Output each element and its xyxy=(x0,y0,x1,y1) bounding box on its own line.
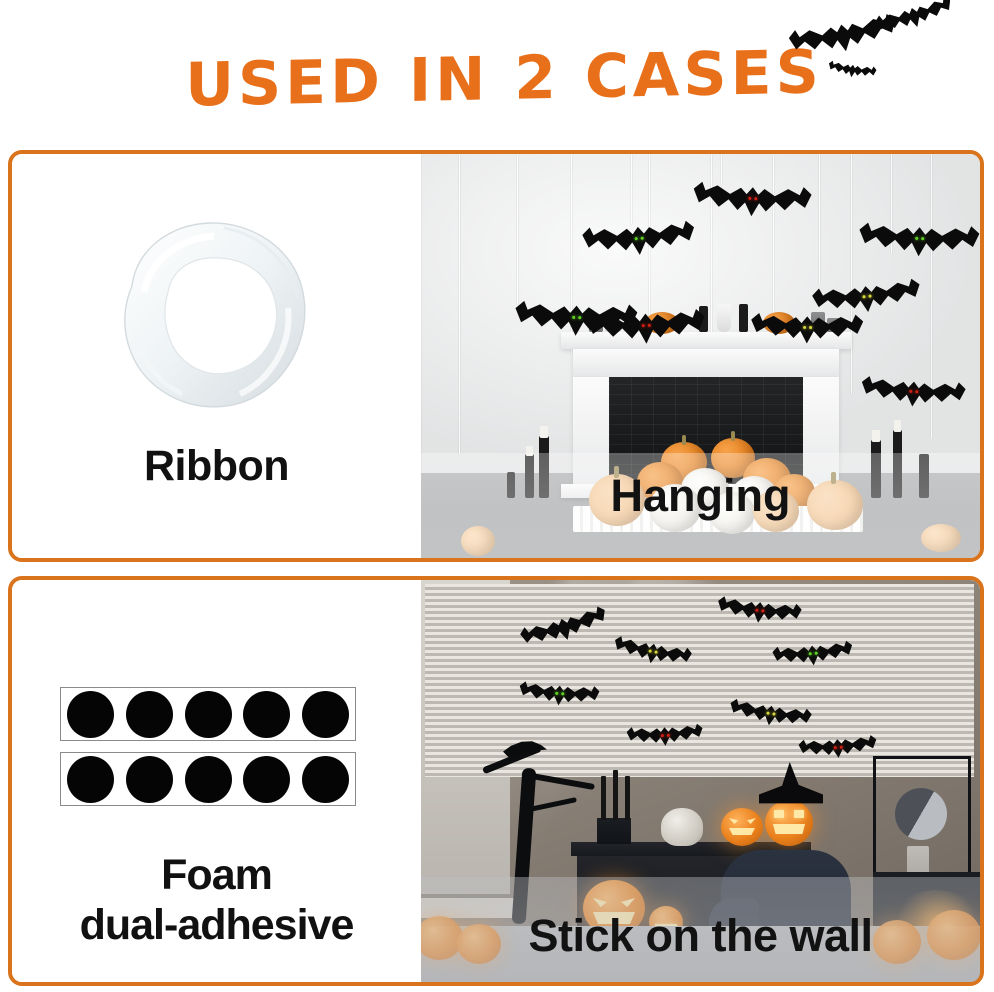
bat-decoration xyxy=(518,675,600,718)
bat-decoration xyxy=(517,599,613,664)
foam-dot xyxy=(126,756,173,803)
bat-decoration xyxy=(586,300,706,362)
bat-icon xyxy=(610,630,693,681)
product-label-foam: Foam dual-adhesive xyxy=(12,850,421,950)
bat-icon xyxy=(771,635,854,680)
bat-eye xyxy=(840,745,843,748)
scene-label-hanging: Hanging xyxy=(421,470,980,522)
case-panel-stick: Foam dual-adhesive xyxy=(8,576,984,986)
bat-decoration xyxy=(692,173,813,235)
bat-icon xyxy=(518,675,600,718)
page-title: USED IN 2 CASES xyxy=(168,33,840,127)
foam-dot xyxy=(302,691,349,738)
foam-dot xyxy=(67,691,114,738)
bat-decoration xyxy=(610,630,693,681)
bat-eye xyxy=(641,236,644,239)
foam-adhesive-strip xyxy=(60,687,356,741)
header: USED IN 2 CASES xyxy=(0,0,994,140)
bat-eye xyxy=(809,326,812,329)
foam-dot xyxy=(243,756,290,803)
foam-dot xyxy=(185,691,232,738)
product-label-ribbon: Ribbon xyxy=(12,442,421,491)
foam-dot xyxy=(302,756,349,803)
bat-decoration xyxy=(858,214,980,274)
bat-icon xyxy=(517,599,613,664)
scene-hanging-art: Hanging xyxy=(421,154,980,558)
bat-icon xyxy=(626,718,704,758)
bat-eye xyxy=(834,746,837,749)
bat-eye xyxy=(803,326,806,329)
infographic-root: USED IN 2 CASES xyxy=(0,0,994,992)
scene-stick-art: Stick on the wall xyxy=(421,580,980,982)
product-cell-foam: Foam dual-adhesive xyxy=(12,580,421,982)
bat-icon xyxy=(586,300,706,362)
bat-decoration xyxy=(859,368,966,423)
bat-eye xyxy=(667,733,670,736)
bat-icon xyxy=(858,214,980,274)
scene-stick: Stick on the wall xyxy=(421,580,980,982)
header-bat-medium xyxy=(872,0,957,48)
bat-icon xyxy=(581,212,696,274)
scene-label-stick: Stick on the wall xyxy=(421,910,980,962)
ribbon-coil-icon xyxy=(92,216,322,416)
bat-decoration xyxy=(581,212,696,274)
product-label-foam-line2: dual-adhesive xyxy=(12,900,421,950)
case-panel-hanging: Ribbon xyxy=(8,150,984,562)
bat-decoration xyxy=(771,635,854,680)
bat-icon xyxy=(715,590,803,639)
bat-icon xyxy=(811,270,924,331)
bat-eye xyxy=(635,237,638,240)
bat-decoration xyxy=(811,270,924,331)
foam-dot xyxy=(67,756,114,803)
product-label-foam-line1: Foam xyxy=(12,850,421,900)
bat-eye xyxy=(661,734,664,737)
foam-dot xyxy=(185,756,232,803)
bat-icon xyxy=(798,729,878,770)
product-cell-ribbon: Ribbon xyxy=(12,154,421,558)
scene-hanging: Hanging xyxy=(421,154,980,558)
bat-icon xyxy=(859,368,966,423)
foam-adhesive-strip xyxy=(60,752,356,806)
bat-decoration xyxy=(626,718,704,758)
bat-decoration xyxy=(798,729,878,770)
foam-dot xyxy=(243,691,290,738)
bat-decoration xyxy=(715,590,803,639)
foam-dot xyxy=(126,691,173,738)
bat-icon xyxy=(692,173,813,235)
